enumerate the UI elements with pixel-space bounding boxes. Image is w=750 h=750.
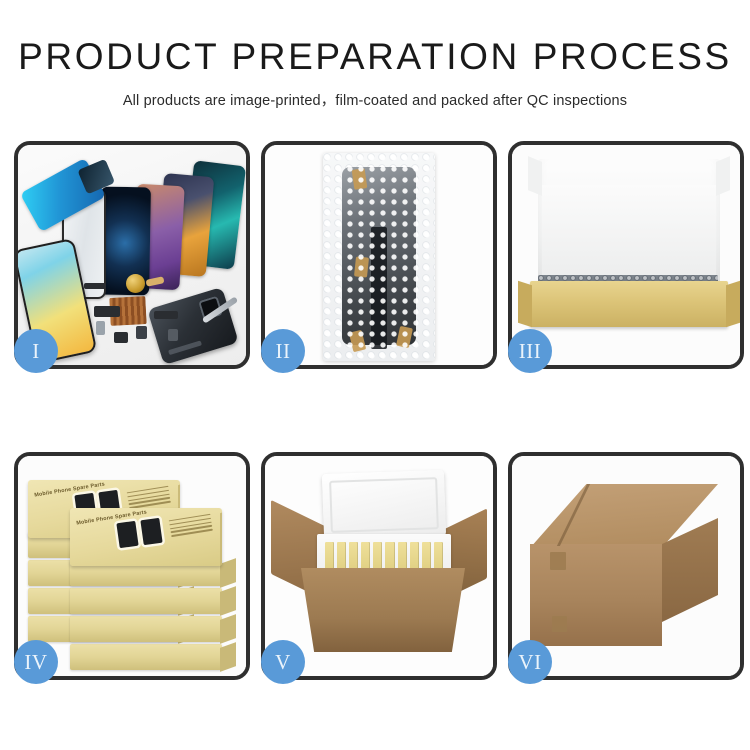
step-badge-6: VI xyxy=(508,640,552,684)
sealed-carton-illustration xyxy=(512,456,740,676)
step-image-2 xyxy=(265,145,493,365)
yellow-box-tray xyxy=(530,281,728,327)
stacked-boxes-illustration: Mobile Phone Spare Parts Mobile Phone Sp… xyxy=(18,456,246,676)
bubble-wrap-bag xyxy=(323,153,435,361)
page-title: PRODUCT PREPARATION PROCESS xyxy=(0,38,750,75)
step-badge-1: I xyxy=(14,329,58,373)
part-connector-7 xyxy=(154,311,178,319)
step-card-2: II xyxy=(261,141,497,369)
bubble-wrap-illustration xyxy=(265,145,493,365)
box-screen-image-3 xyxy=(116,521,138,548)
step-badge-2: II xyxy=(261,329,305,373)
tape-piece-4 xyxy=(396,326,413,348)
foam-lid-open xyxy=(322,470,446,540)
carton-with-foam-illustration xyxy=(265,456,493,676)
carton-tape-1 xyxy=(550,552,566,570)
box-label-front: Mobile Phone Spare Parts xyxy=(76,509,147,526)
header: PRODUCT PREPARATION PROCESS All products… xyxy=(0,0,750,110)
wrapped-flex-cable xyxy=(371,227,387,349)
phones-and-parts-illustration xyxy=(18,145,246,365)
gold-disc-part xyxy=(126,274,145,293)
stack-box-front-1 xyxy=(70,644,222,670)
step-image-6 xyxy=(512,456,740,676)
stack-box-top-front: Mobile Phone Spare Parts xyxy=(70,508,222,566)
box-label-rear: Mobile Phone Spare Parts xyxy=(34,481,105,498)
step-card-6: VI xyxy=(508,452,744,680)
step-image-1 xyxy=(18,145,246,365)
stack-box-front-3 xyxy=(70,588,222,614)
page-subtitle: All products are image-printed，film-coat… xyxy=(0,89,750,110)
step-image-5 xyxy=(265,456,493,676)
tape-piece-1 xyxy=(352,168,368,190)
tape-piece-2 xyxy=(354,256,369,277)
step-badge-5: V xyxy=(261,640,305,684)
step-badge-3: III xyxy=(508,329,552,373)
part-connector-6 xyxy=(136,326,147,339)
open-flat-box-illustration xyxy=(512,145,740,365)
foam-face xyxy=(542,185,716,281)
box-text-lines-front xyxy=(169,514,213,539)
process-step-grid: I II xyxy=(14,141,736,680)
step-card-1: I xyxy=(14,141,250,369)
step-card-3: III xyxy=(508,141,744,369)
carton-tape-2 xyxy=(552,616,567,632)
step-image-4: Mobile Phone Spare Parts Mobile Phone Sp… xyxy=(18,456,246,676)
step-image-3 xyxy=(512,145,740,365)
part-connector-5 xyxy=(114,332,128,343)
step-card-4: Mobile Phone Spare Parts Mobile Phone Sp… xyxy=(14,452,250,680)
part-connector-3 xyxy=(94,306,120,317)
part-connector-1 xyxy=(84,283,106,289)
carton-body xyxy=(301,568,465,652)
phone-chassis xyxy=(147,287,239,365)
step-badge-4: IV xyxy=(14,640,58,684)
part-connector-8 xyxy=(168,329,178,341)
box-screen-image-4 xyxy=(140,518,162,545)
step-card-5: V xyxy=(261,452,497,680)
part-connector-4 xyxy=(96,321,105,335)
stack-box-front-2 xyxy=(70,616,222,642)
product-preparation-infographic: PRODUCT PREPARATION PROCESS All products… xyxy=(0,0,750,750)
